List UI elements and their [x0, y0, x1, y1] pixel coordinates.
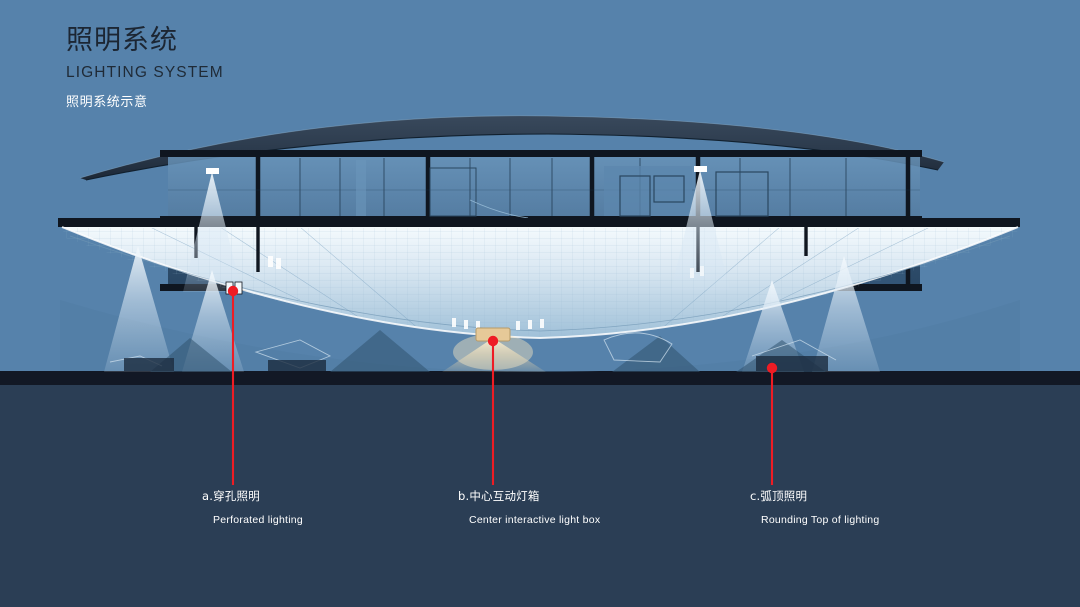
marker-dot-b [488, 336, 498, 346]
callout-b-label-en: Center interactive light box [469, 514, 600, 526]
callout-a-label-en: Perforated lighting [213, 514, 303, 526]
upper-storey [160, 150, 922, 224]
callout-b: b.中心互动灯箱 Center interactive light box [458, 488, 600, 526]
page-title-cn: 照明系统 [66, 24, 224, 58]
page-subtitle-cn: 照明系统示意 [66, 91, 224, 110]
upper-roof-beam [160, 150, 922, 157]
marker-dot-c [767, 363, 777, 373]
callout-c-label-cn: c.弧顶照明 [750, 488, 879, 504]
callout-c: c.弧顶照明 Rounding Top of lighting [750, 488, 879, 526]
callout-c-label-en: Rounding Top of lighting [761, 514, 879, 526]
callout-b-label-cn: b.中心互动灯箱 [458, 488, 600, 504]
page-title-en: LIGHTING SYSTEM [66, 64, 224, 82]
lighting-system-board: 照明系统 LIGHTING SYSTEM 照明系统示意 a.穿孔照明 Perfo… [0, 0, 1080, 607]
fixture-roof-eave-left [206, 168, 219, 174]
callout-a: a.穿孔照明 Perforated lighting [202, 488, 303, 526]
fixture-roof-eave-right [694, 166, 707, 172]
ground-strip [0, 371, 1080, 385]
callout-a-label-cn: a.穿孔照明 [202, 488, 303, 504]
marker-dot-a [228, 286, 238, 296]
title-block: 照明系统 LIGHTING SYSTEM 照明系统示意 [66, 24, 224, 110]
